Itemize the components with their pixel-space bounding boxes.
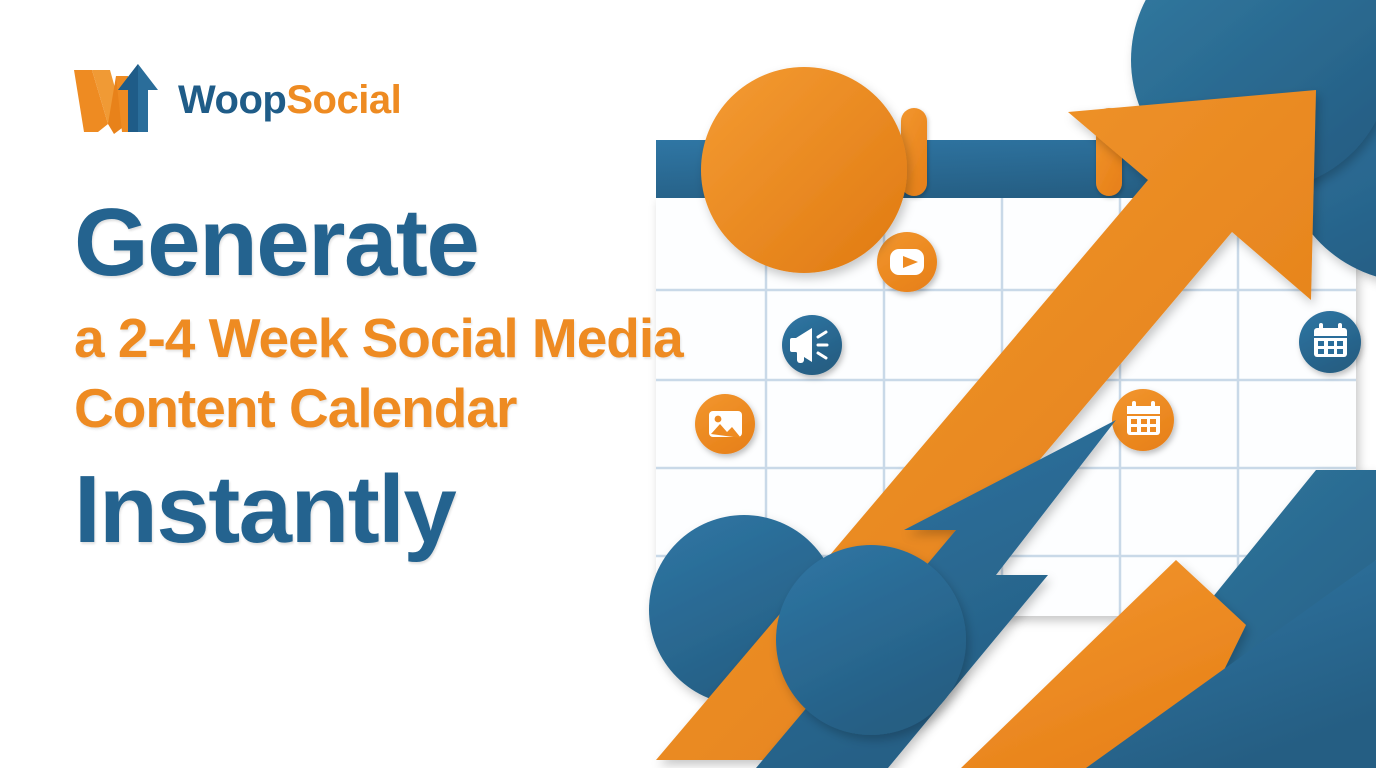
brand-name-primary: Woop (178, 78, 286, 122)
brand-logo[interactable]: WoopSocial (72, 62, 401, 138)
headline-line-3: Content Calendar (74, 374, 974, 444)
promo-banner: WoopSocial Generate a 2-4 Week Social Me… (0, 0, 1376, 768)
brand-name-secondary: Social (286, 78, 401, 122)
calendar-icon-orange (1112, 389, 1174, 451)
headline-line-2: a 2-4 Week Social Media (74, 304, 974, 374)
headline-line-4: Instantly (74, 462, 974, 558)
brand-wordmark: WoopSocial (178, 80, 401, 120)
blue-circle-bottom (776, 545, 966, 735)
headline-line-1: Generate (74, 196, 974, 290)
calendar-icon-blue (1299, 311, 1361, 373)
text-column: WoopSocial Generate a 2-4 Week Social Me… (0, 0, 740, 768)
headline-block: Generate a 2-4 Week Social Media Content… (74, 196, 974, 558)
woopsocial-w-arrow-logo (72, 62, 164, 138)
